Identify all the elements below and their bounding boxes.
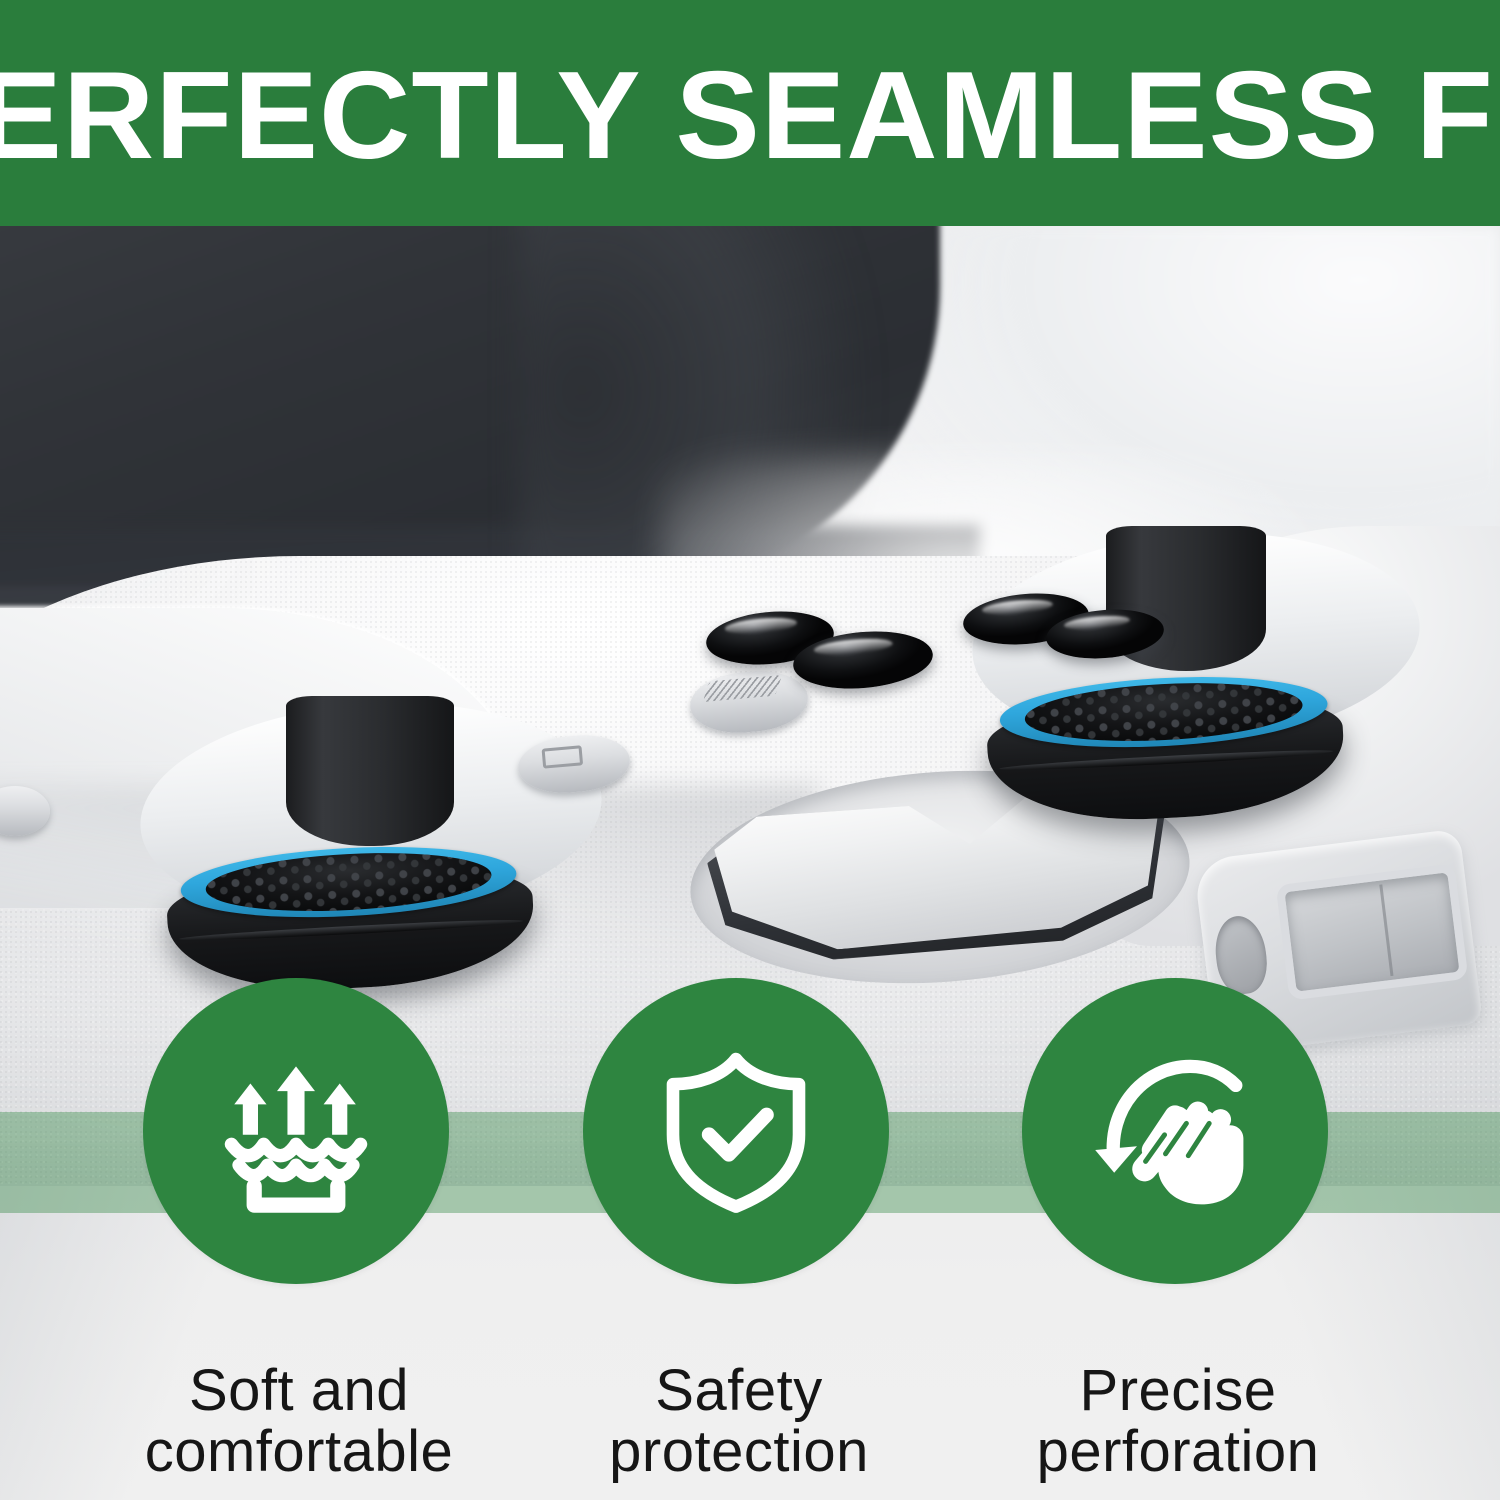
feature-safety-protection: Safety protection xyxy=(583,978,895,1483)
speaker-grille-icon xyxy=(702,675,781,702)
feature-caption: Safety protection xyxy=(583,1360,895,1483)
left-thumbstick-stem xyxy=(286,696,454,846)
feature-soft-and-comfortable: Soft and comfortable xyxy=(143,978,455,1483)
create-glyph-icon xyxy=(541,745,583,769)
feature-caption: Precise perforation xyxy=(1022,1360,1334,1483)
feature-caption: Soft and comfortable xyxy=(143,1360,455,1483)
feature-icon-circle xyxy=(583,978,889,1284)
product-marketing-image: PERFECTLY SEAMLESS FIT xyxy=(0,0,1500,1500)
header-banner: PERFECTLY SEAMLESS FIT xyxy=(0,0,1500,226)
page-title: PERFECTLY SEAMLESS FIT xyxy=(0,48,1500,178)
right-thumbstick-grip-cover xyxy=(984,659,1349,853)
breathable-fabric-icon xyxy=(201,1036,391,1226)
feature-icon-circle xyxy=(143,978,449,1284)
feature-precise-perforation: Precise perforation xyxy=(1022,978,1334,1483)
feature-icon-circle xyxy=(1022,978,1328,1284)
shield-check-icon xyxy=(646,1041,826,1221)
hand-rotate-icon xyxy=(1080,1036,1270,1226)
